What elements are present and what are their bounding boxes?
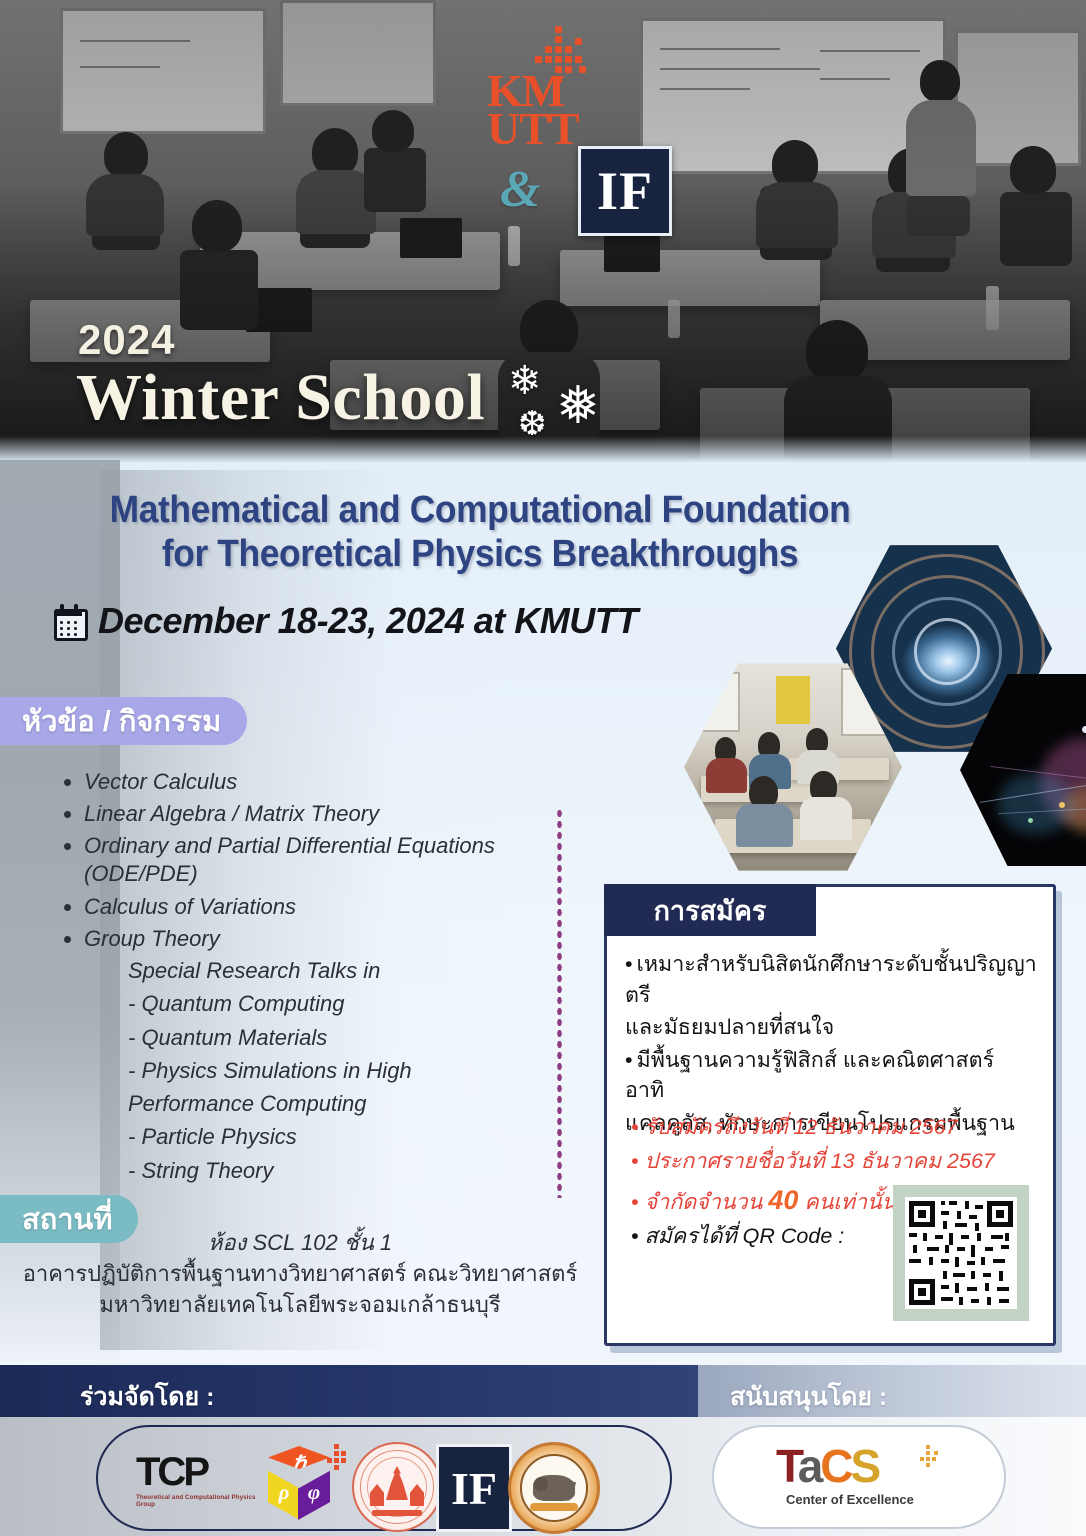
dotted-divider — [556, 808, 563, 1198]
application-header: การสมัคร — [604, 884, 816, 936]
deadline-text: รับสมัครถึงวันที่ 12 ธันวาคม 2567 — [645, 1115, 958, 1139]
bullet-icon: • — [631, 1115, 639, 1139]
kmutt-wordmark: KM UTT — [487, 72, 599, 147]
quota-suffix: คนเท่านั้น — [804, 1190, 896, 1214]
application-box: การสมัคร •เหมาะสำหรับนิสิตนักศึกษาระดับช… — [604, 884, 1056, 1346]
bullet-icon: • — [631, 1224, 639, 1248]
talks-heading: Special Research Talks in — [128, 956, 548, 985]
requirement-line: เหมาะสำหรับนิสิตนักศึกษาระดับชั้นปริญญาต… — [625, 952, 1037, 1007]
sponsors-label: สนับสนุนโดย : — [730, 1377, 887, 1417]
list-item: - Particle Physics — [128, 1122, 548, 1151]
list-item: Ordinary and Partial Differential Equati… — [84, 832, 536, 888]
if-logo-text: IF — [597, 164, 653, 218]
ampersand-icon: & — [500, 160, 540, 219]
if-footer-text: IF — [451, 1462, 497, 1515]
title-line-1: Mathematical and Computational Foundatio… — [110, 489, 851, 531]
calendar-icon — [52, 604, 86, 638]
tcp-logo: TCP Theoretical and Computational Physic… — [136, 1452, 262, 1510]
application-header-label: การสมัคร — [654, 889, 767, 932]
requirement-line-cont: และมัธยมปลายที่สนใจ — [625, 1012, 1037, 1043]
topics-list: Vector Calculus Linear Algebra / Matrix … — [56, 768, 536, 957]
organizers-label: ร่วมจัดโดย : — [80, 1377, 214, 1417]
venue-address: ห้อง SCL 102 ชั้น 1 อาคารปฏิบัติการพื้นฐ… — [0, 1228, 600, 1320]
tacs-letter-t: T — [776, 1440, 798, 1492]
event-date: December 18-23, 2024 at KMUTT — [52, 600, 638, 642]
snowflake-icon: ❅ — [556, 376, 600, 436]
qr-label-text: สมัครได้ที่ QR Code : — [645, 1224, 845, 1248]
hero-event-name: Winter School — [76, 360, 485, 436]
quota-prefix: จำกัดจำนวน — [645, 1190, 763, 1214]
kmutt-line-2: UTT — [487, 110, 599, 148]
qr-label: • สมัครได้ที่ QR Code : — [631, 1219, 844, 1253]
tacs-letter-a: a — [798, 1440, 821, 1492]
venue-line-3: มหาวิทยาลัยเทคโนโลยีพระจอมเกล้าธนบุรี — [0, 1290, 600, 1321]
cube-face-right: φ — [298, 1464, 330, 1520]
event-date-text: December 18-23, 2024 at KMUTT — [98, 600, 638, 642]
tcp-subtitle: Theoretical and Computational Physics Gr… — [136, 1494, 262, 1508]
requirement-line: มีพื้นฐานความรู้ฟิสิกส์ และคณิตศาสตร์ อา… — [625, 1048, 994, 1103]
poster: KM UTT & IF 2024 Winter School ❄ ❅ ❆ Mat… — [0, 0, 1086, 1536]
hero-year: 2024 — [78, 316, 175, 364]
list-item: - Quantum Materials — [128, 1023, 548, 1052]
requirement-item: •เหมาะสำหรับนิสิตนักศึกษาระดับชั้นปริญญา… — [625, 949, 1037, 1010]
if-footer-logo: IF — [436, 1444, 512, 1532]
tacs-letter-s: S — [851, 1440, 879, 1492]
cube-face-left: ρ — [268, 1464, 300, 1520]
tacs-subtitle: Center of Excellence — [786, 1492, 956, 1507]
qr-code-image[interactable] — [905, 1197, 1017, 1309]
tcp-wordmark: TCP — [136, 1452, 262, 1492]
list-item: - String Theory — [128, 1156, 548, 1185]
quota-number: 40 — [768, 1185, 798, 1215]
list-item: - Physics Simulations in High — [128, 1056, 548, 1085]
topics-badge: หัวข้อ / กิจกรรม — [0, 697, 247, 745]
announcement-item: •ประกาศรายชื่อวันที่ 13 ธันวาคม 2567 — [631, 1145, 1031, 1179]
bullet-icon: • — [631, 1149, 639, 1173]
bullet-icon: • — [631, 1190, 639, 1214]
tacs-logo: TaCS Center of Excellence — [776, 1443, 956, 1509]
title-line-2: for Theoretical Physics Breakthroughs — [34, 532, 927, 576]
elephant-seal-logo — [508, 1442, 600, 1534]
list-item: Vector Calculus — [84, 768, 536, 796]
list-item: Calculus of Variations — [84, 893, 536, 921]
deadline-item: •รับสมัครถึงวันที่ 12 ธันวาคม 2567 — [631, 1111, 1031, 1145]
list-item: - Quantum Computing — [128, 989, 548, 1018]
hero-photo-band: KM UTT & IF 2024 Winter School ❄ ❅ ❆ — [0, 0, 1086, 462]
list-item: Group Theory — [84, 925, 536, 953]
special-talks-list: Special Research Talks in - Quantum Comp… — [128, 956, 548, 1189]
chulalongkorn-seal-logo — [352, 1442, 442, 1532]
announcement-text: ประกาศรายชื่อวันที่ 13 ธันวาคม 2567 — [645, 1149, 995, 1173]
topics-badge-label: หัวข้อ / กิจกรรม — [22, 698, 221, 744]
page-title: Mathematical and Computational Foundatio… — [34, 488, 927, 576]
bullet-icon: • — [625, 952, 633, 976]
bullet-icon: • — [625, 1048, 633, 1072]
tacs-letter-c: C — [820, 1440, 850, 1492]
venue-line-2: อาคารปฏิบัติการพื้นฐานทางวิทยาศาสตร์ คณะ… — [0, 1259, 600, 1290]
kmutt-logo: KM UTT — [487, 26, 597, 166]
qr-code[interactable] — [893, 1185, 1029, 1321]
list-item: Linear Algebra / Matrix Theory — [84, 800, 536, 828]
list-item: Performance Computing — [128, 1089, 548, 1118]
if-logo: IF — [578, 146, 672, 236]
requirement-item: •มีพื้นฐานความรู้ฟิสิกส์ และคณิตศาสตร์ อ… — [625, 1045, 1037, 1106]
venue-line-1: ห้อง SCL 102 ชั้น 1 — [0, 1228, 600, 1259]
snowflake-icon: ❄ — [508, 358, 542, 404]
physics-cube-logo: ℏ ρ φ — [262, 1440, 348, 1528]
